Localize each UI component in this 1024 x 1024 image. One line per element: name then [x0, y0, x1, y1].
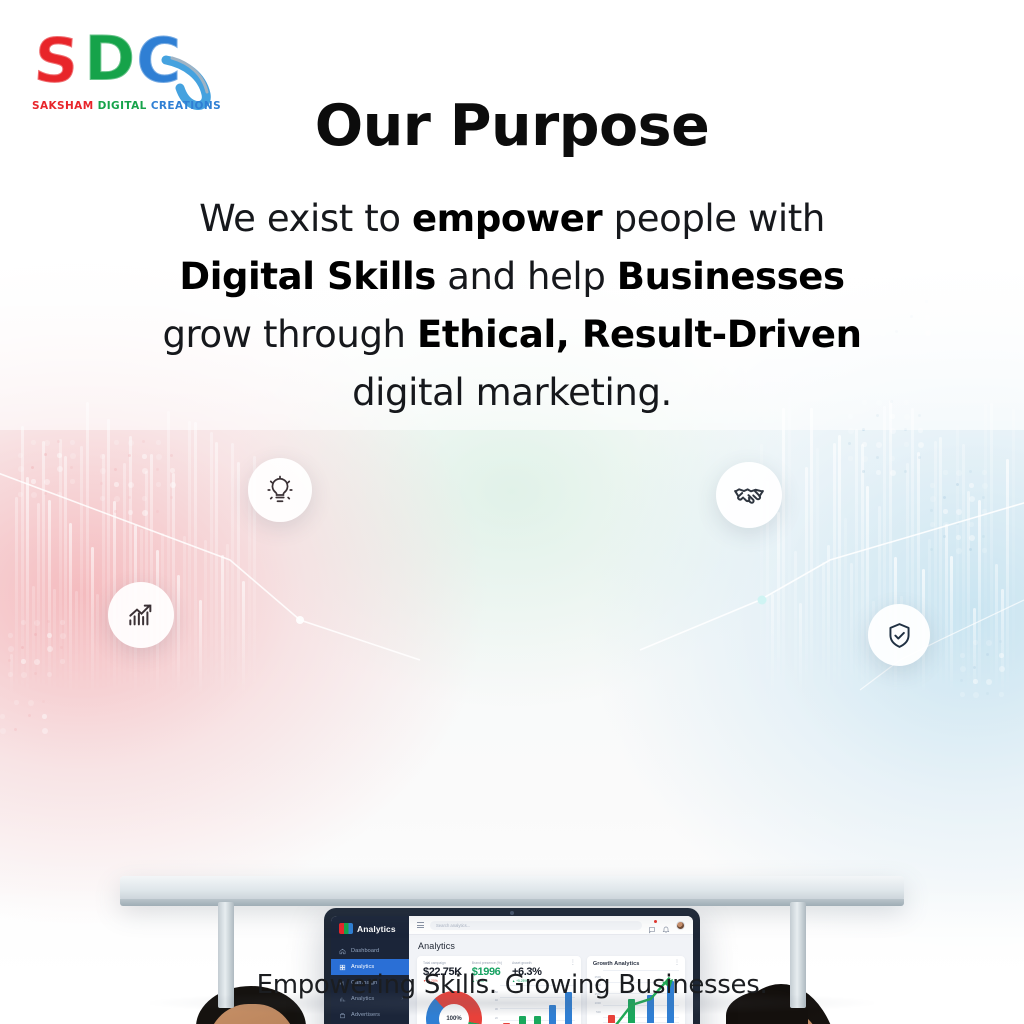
- purpose-statement: We exist to empower people with Digital …: [112, 190, 912, 422]
- bar: [608, 1015, 615, 1023]
- card-growth-top-head: Growth Analytics ⋮: [593, 961, 679, 967]
- bell-icon[interactable]: [662, 921, 670, 929]
- desk-edge: [120, 899, 904, 906]
- kebab-menu-icon[interactable]: ⋮: [570, 961, 575, 966]
- avatar[interactable]: [676, 921, 685, 930]
- message-icon[interactable]: [648, 921, 656, 929]
- page-title: Our Purpose: [0, 95, 1024, 157]
- home-icon: [339, 948, 346, 955]
- office-scene: Analytics DashboardAnalyticsCampaign›Ana…: [0, 424, 1024, 1024]
- card-growth-top-title: Growth Analytics: [593, 961, 640, 967]
- dashboard-brand: Analytics: [331, 923, 409, 943]
- dashboard-page-title: Analytics: [418, 941, 685, 951]
- donut-center-label: 100%: [426, 991, 482, 1024]
- statement-line-1-c: people with: [602, 197, 825, 240]
- sidebar-item-label: Dashboard: [351, 948, 403, 954]
- footer-tagline: Empowering Skills. Growing Businesses.: [0, 970, 1024, 1000]
- statement-emphasis-empower: empower: [412, 197, 602, 240]
- logo-letter-d: D: [84, 28, 133, 90]
- y-tick: 20: [495, 1016, 498, 1020]
- statement-line-2-b: and help: [436, 255, 617, 298]
- dashboard-topbar: Search analytics...: [409, 916, 693, 935]
- search-input[interactable]: Search analytics...: [430, 921, 642, 930]
- kpi-label: Asset growth: [512, 961, 542, 965]
- statement-line-3-a: grow through: [162, 313, 417, 356]
- logo-letter-c: C: [136, 30, 180, 92]
- notification-badge: [654, 920, 657, 923]
- statement-line-4: digital marketing.: [352, 371, 672, 414]
- poster-canvas: S D C SAKSHAM DIGITAL CREATIONS Our Purp…: [0, 0, 1024, 1024]
- logo-letter-s: S: [32, 30, 79, 92]
- statement-emphasis-ethical: Ethical, Result-Driven: [417, 313, 862, 356]
- statement-emphasis-digital-skills: Digital Skills: [179, 255, 436, 298]
- dashboard-brand-name: Analytics: [357, 924, 396, 934]
- logo-letters: S D C: [28, 28, 210, 98]
- statement-emphasis-businesses: Businesses: [617, 255, 845, 298]
- statement-line-1-a: We exist to: [199, 197, 412, 240]
- kpi-label: Brand presence (%): [472, 961, 502, 965]
- bar: [519, 1016, 526, 1024]
- donut-chart: 100%: [426, 991, 482, 1024]
- bar: [534, 1016, 541, 1024]
- sidebar-item-dashboard[interactable]: Dashboard: [331, 943, 409, 959]
- kebab-menu-icon[interactable]: ⋮: [674, 961, 679, 966]
- kpi-label: Total campaign: [423, 961, 462, 965]
- brand-mark-icon: [339, 923, 353, 934]
- hamburger-menu-icon[interactable]: [417, 922, 424, 928]
